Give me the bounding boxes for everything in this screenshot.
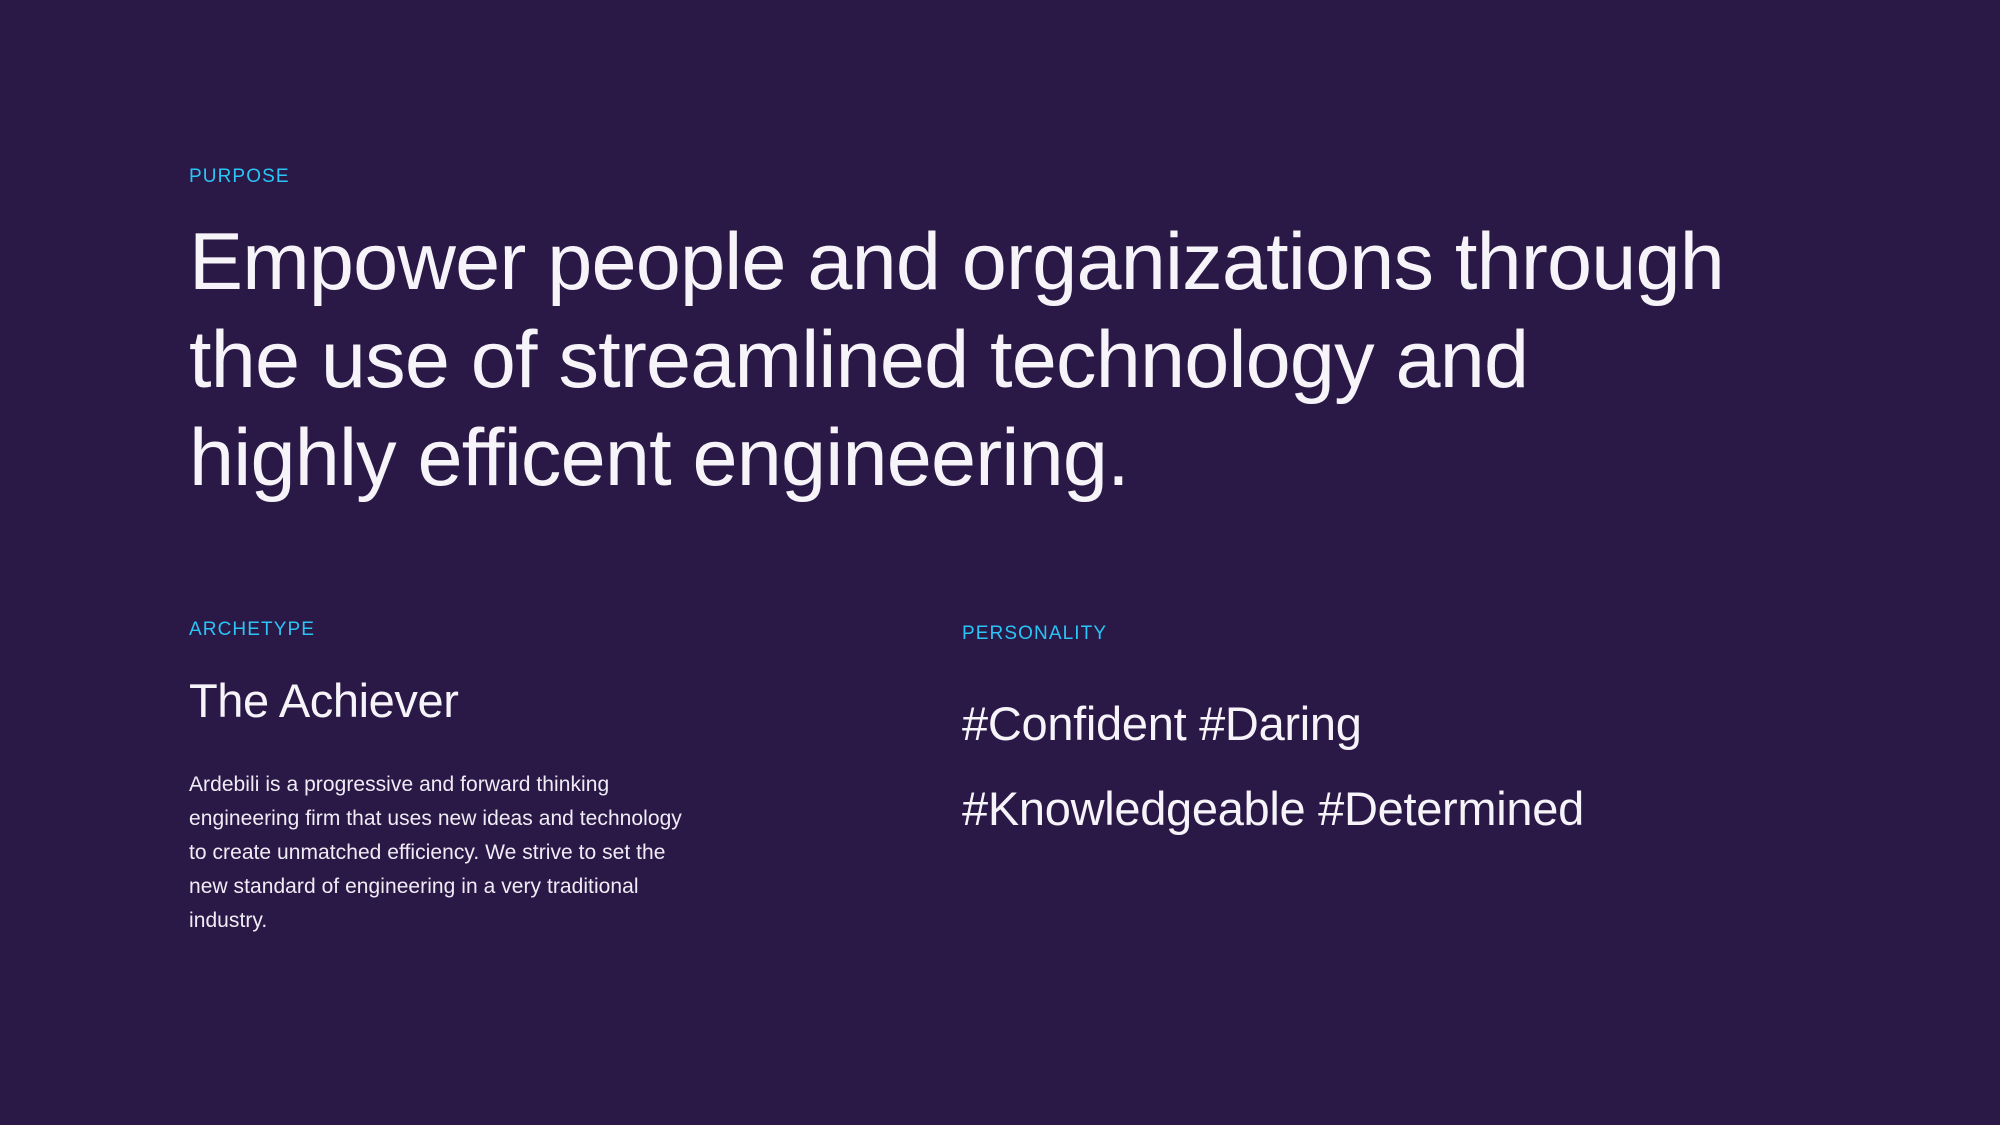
purpose-section: PURPOSE Empower people and organizations… xyxy=(189,167,1889,561)
personality-tag-line: #Knowledgeable #Determined xyxy=(962,766,1862,851)
archetype-section: ARCHETYPE The Achiever Ardebili is a pro… xyxy=(189,620,749,959)
personality-tag-list: #Confident #Daring #Knowledgeable #Deter… xyxy=(962,681,1862,851)
brand-purpose-slide: PURPOSE Empower people and organizations… xyxy=(0,0,2000,1125)
archetype-label: ARCHETYPE xyxy=(189,620,749,639)
personality-label: PERSONALITY xyxy=(962,624,1862,643)
archetype-description: Ardebili is a progressive and forward th… xyxy=(189,768,699,938)
archetype-title: The Achiever xyxy=(189,673,749,729)
purpose-headline: Empower people and organizations through… xyxy=(189,213,1749,507)
personality-tag-line: #Confident #Daring xyxy=(962,681,1862,766)
personality-section: PERSONALITY #Confident #Daring #Knowledg… xyxy=(962,624,1862,851)
purpose-label: PURPOSE xyxy=(189,167,1889,186)
